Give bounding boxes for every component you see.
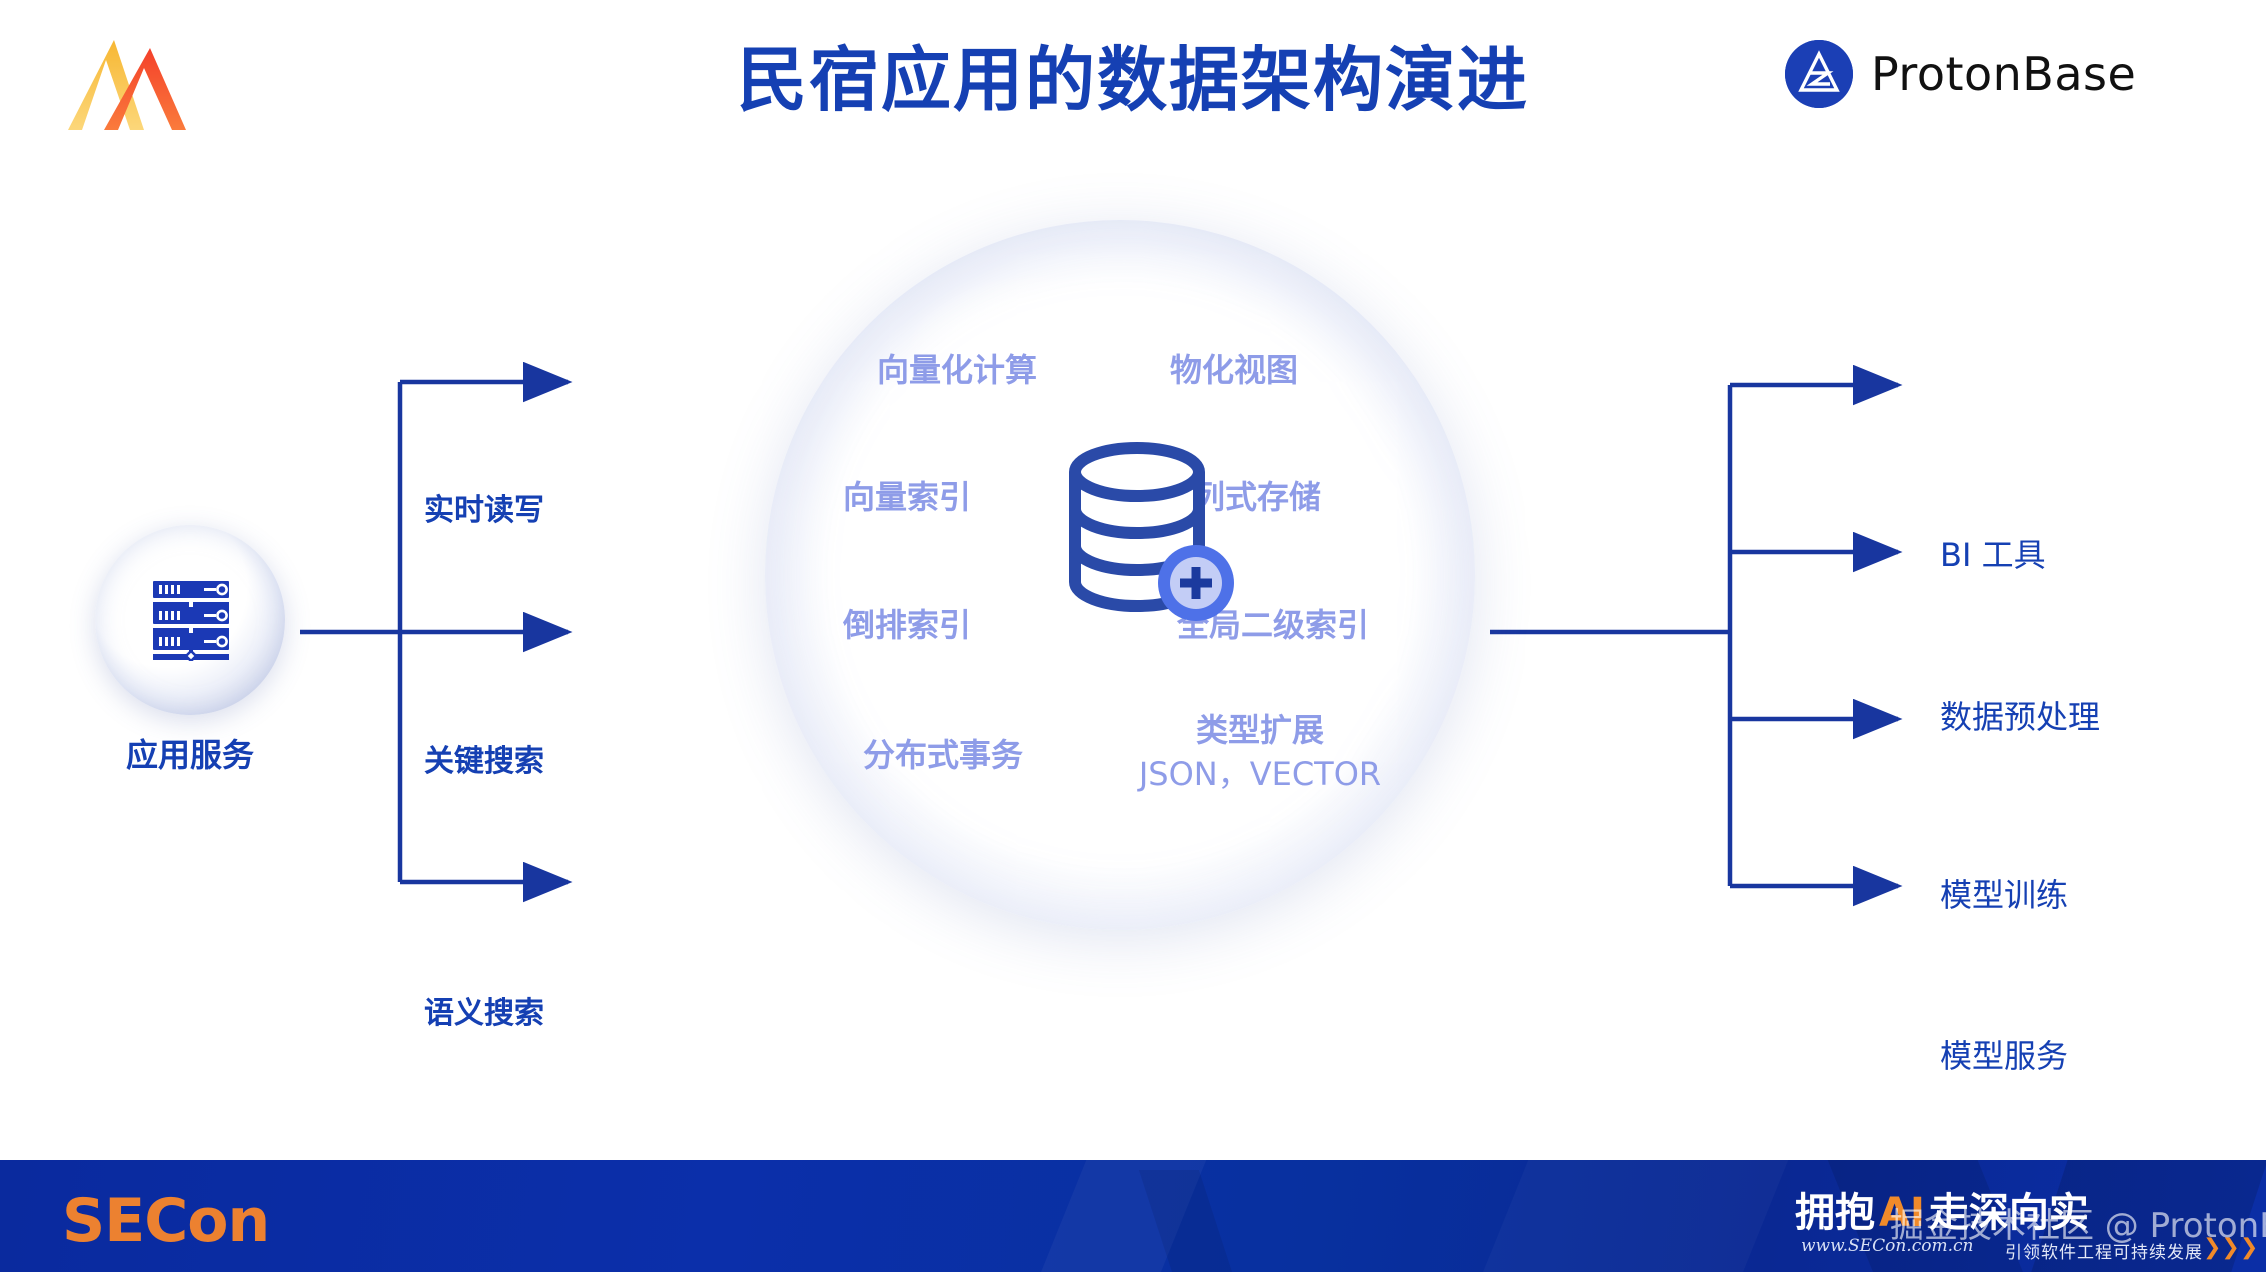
input-flow-label-0: 实时读写 bbox=[424, 485, 544, 529]
watermark: 掘金技术社区 @ ProtonBase bbox=[1890, 1198, 2266, 1247]
footer-decor-shape bbox=[1456, 1160, 1805, 1272]
brand-name: ProtonBase bbox=[1871, 47, 2136, 101]
source-node-label: 应用服务 bbox=[67, 730, 313, 776]
slogan-prefix: 拥抱 bbox=[1795, 1190, 1875, 1236]
output-flow-label-1: 数据预处理 bbox=[1940, 692, 2100, 738]
server-rack-icon bbox=[149, 577, 233, 661]
diagram-stage: 应用服务 实时读写 关键搜索 语义搜索 向量化计算 物化视图 向量索引 列式存储… bbox=[0, 170, 2266, 1150]
capability-label-1: 物化视图 bbox=[1170, 345, 1298, 391]
capability-label-4: 倒排索引 bbox=[843, 600, 971, 646]
capability-label-6: 分布式事务 bbox=[863, 730, 1023, 776]
output-flow-label-2: 模型训练 bbox=[1940, 870, 2068, 916]
output-flow-label-0: BI 工具 bbox=[1940, 530, 2046, 576]
database-add-icon bbox=[1055, 440, 1235, 630]
platform-bubble[interactable]: 向量化计算 物化视图 向量索引 列式存储 倒排索引 全局二级索引 分布式事务 类… bbox=[765, 220, 1475, 930]
slide-header: 民宿应用的数据架构演进 ProtonBase bbox=[0, 0, 2266, 170]
type-extension-title: 类型扩展 bbox=[1100, 708, 1420, 752]
type-extension-detail: JSON，VECTOR bbox=[1100, 752, 1420, 796]
capability-label-2: 向量索引 bbox=[843, 472, 971, 518]
type-extension-block: 类型扩展 JSON，VECTOR bbox=[1100, 708, 1420, 796]
brand-logo: ProtonBase bbox=[1785, 40, 2136, 108]
capability-label-0: 向量化计算 bbox=[877, 345, 1037, 391]
protonbase-triangle-icon bbox=[1785, 40, 1853, 108]
input-flow-label-2: 语义搜索 bbox=[424, 988, 544, 1032]
source-node[interactable]: 应用服务 bbox=[95, 525, 295, 785]
output-flow-label-3: 模型服务 bbox=[1940, 1031, 2068, 1077]
secon-wordmark: SECon bbox=[62, 1186, 269, 1256]
input-flow-label-1: 关键搜索 bbox=[424, 736, 544, 780]
